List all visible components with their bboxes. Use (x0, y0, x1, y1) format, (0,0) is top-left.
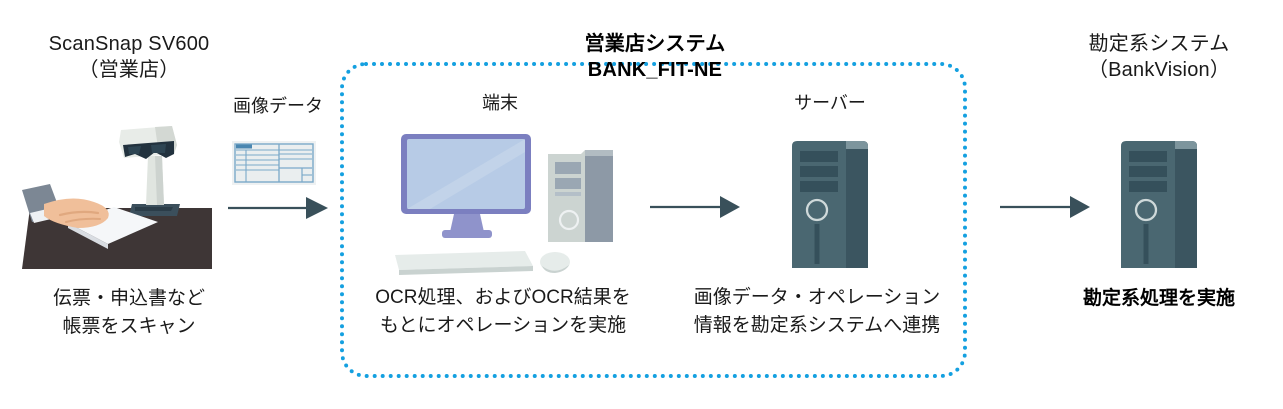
caption-core-system: 勘定系処理を実施 (1048, 285, 1270, 313)
server-label: サーバー (775, 92, 885, 115)
scanner-title: ScanSnap SV600 （営業店） (14, 32, 244, 83)
terminal-label: 端末 (440, 92, 560, 115)
form-document-icon (232, 141, 316, 185)
caption-server: 画像データ・オペレーション 情報を勘定系システムへ連携 (672, 284, 962, 339)
caption-terminal: OCR処理、およびOCR結果を もとにオペレーションを実施 (348, 284, 658, 339)
desktop-computer-icon (385, 128, 625, 278)
center-system-title: 営業店システム BANK_FIT-NE (530, 32, 780, 83)
document-scanner-icon (22, 112, 242, 282)
arrow-right-icon (228, 193, 328, 223)
server-tower-icon (1119, 138, 1199, 268)
arrow-right-icon (1000, 192, 1090, 222)
core-system-title: 勘定系システム （BankVision） (1048, 32, 1270, 83)
arrow-right-icon (650, 192, 740, 222)
image-data-label: 画像データ (218, 95, 338, 118)
caption-scan: 伝票・申込書など 帳票をスキャン (14, 285, 244, 340)
server-tower-icon (790, 138, 870, 268)
